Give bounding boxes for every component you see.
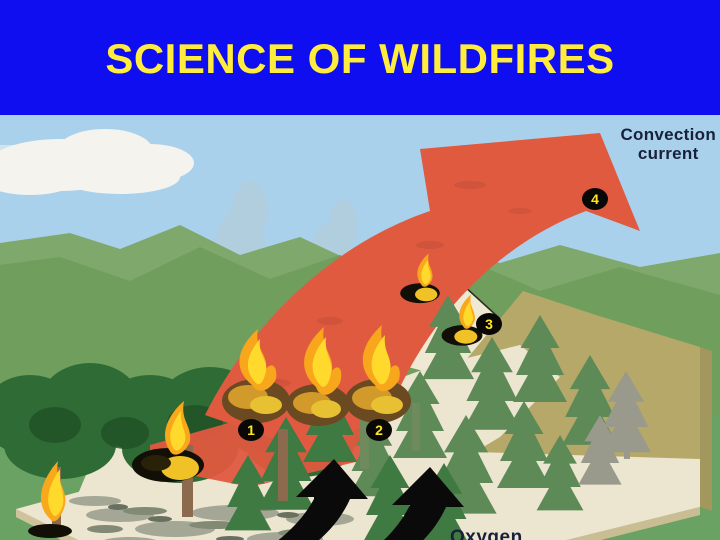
title-bar: SCIENCE OF WILDFIRES: [0, 0, 720, 115]
label-convection-current: Convection current: [620, 125, 716, 163]
label-oxygen: Oxygen: [450, 527, 523, 540]
page-title: SCIENCE OF WILDFIRES: [0, 36, 720, 82]
label-convection-line2: current: [620, 144, 716, 163]
burning-tree-crowns: [222, 325, 411, 426]
wildfire-diagram: Convection current Oxygen 1 2 3 4: [0, 115, 720, 540]
marker-4: 4: [582, 188, 608, 210]
marker-3: 3: [476, 313, 502, 335]
slide: SCIENCE OF WILDFIRES: [0, 0, 720, 540]
marker-1: 1: [238, 419, 264, 441]
label-convection-line1: Convection: [620, 125, 716, 144]
hillside-tan-shadow: [700, 347, 712, 511]
marker-2: 2: [366, 419, 392, 441]
